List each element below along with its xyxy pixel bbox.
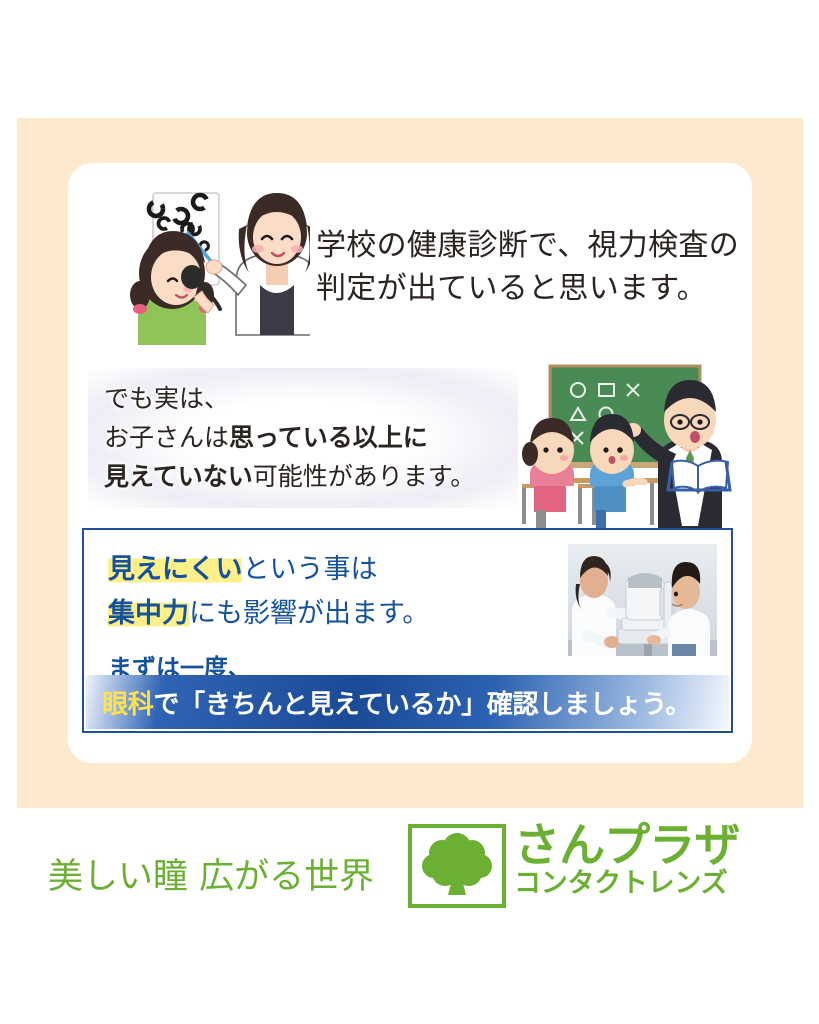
headline-2-line-3-plain: 可能性があります。 [253, 462, 476, 491]
headline-paragraph-2: でも実は、 お子さんは思っている以上に 見えていない可能性があります。 [104, 380, 524, 496]
footer: 美しい瞳 広がる世界 [0, 820, 819, 930]
brand-logo[interactable]: さんプラザ コンタクトレンズ [408, 824, 739, 908]
headline-2-line-2-bold: 思っている以上に [229, 423, 428, 452]
logo-line-1: さんプラザ [514, 824, 739, 867]
callout-line-2: 集中力にも影響が出ます。 [108, 592, 518, 636]
tree-logo-mark [408, 824, 506, 908]
headline-2-line-3: 見えていない可能性があります。 [104, 458, 524, 497]
headline-2-line-2: お子さんは思っている以上に [104, 419, 524, 458]
section-eye-test: 学校の健康診断で、視力検査の 判定が出ていると思います。 [68, 163, 752, 343]
eye-test-illustration [110, 185, 310, 350]
content-card: 学校の健康診断で、視力検査の 判定が出ていると思います。 でも実は、 お子さんは… [68, 163, 752, 763]
headline-paragraph-1: 学校の健康診断で、視力検査の 判定が出ていると思います。 [316, 225, 746, 310]
brand-tagline: 美しい瞳 広がる世界 [48, 848, 374, 899]
emphasis-banner: 眼科で「きちんと見えているか」確認しましょう。 [86, 675, 729, 729]
blue-callout-box: 見えにくいという事は 集中力にも影響が出ます。 まずは一度、 [82, 528, 733, 733]
callout-line-1-rest: という事は [242, 554, 377, 585]
logo-wordmark: さんプラザ コンタクトレンズ [514, 824, 739, 897]
classroom-illustration [508, 358, 740, 536]
logo-line-2: コンタクトレンズ [514, 870, 739, 897]
callout-line-1: 見えにくいという事は [108, 548, 518, 592]
headline-2-line-1: でも実は、 [104, 380, 524, 419]
banner-text: 眼科で「きちんと見えているか」確認しましょう。 [102, 684, 691, 721]
callout-line-1-highlight: 見えにくい [108, 554, 242, 585]
headline-2-line-2-plain: お子さんは [104, 423, 229, 452]
headline-1-line-1: 学校の健康診断で、視力検査の [316, 225, 746, 268]
headline-2-line-3-bold: 見えていない [104, 462, 253, 491]
callout-line-2-highlight: 集中力 [108, 598, 189, 629]
section-reality: でも実は、 お子さんは思っている以上に 見えていない可能性があります。 [68, 358, 752, 533]
callout-paragraph: 見えにくいという事は 集中力にも影響が出ます。 [108, 548, 518, 635]
banner-yellow-word: 眼科 [102, 690, 153, 720]
banner-white-text: で「きちんと見えているか」確認しましょう。 [153, 690, 691, 720]
eye-exam-photo [568, 544, 717, 656]
poster-root: 学校の健康診断で、視力検査の 判定が出ていると思います。 でも実は、 お子さんは… [0, 0, 819, 1024]
headline-1-line-2: 判定が出ていると思います。 [316, 268, 746, 311]
callout-line-2-rest: にも影響が出ます。 [189, 598, 429, 629]
